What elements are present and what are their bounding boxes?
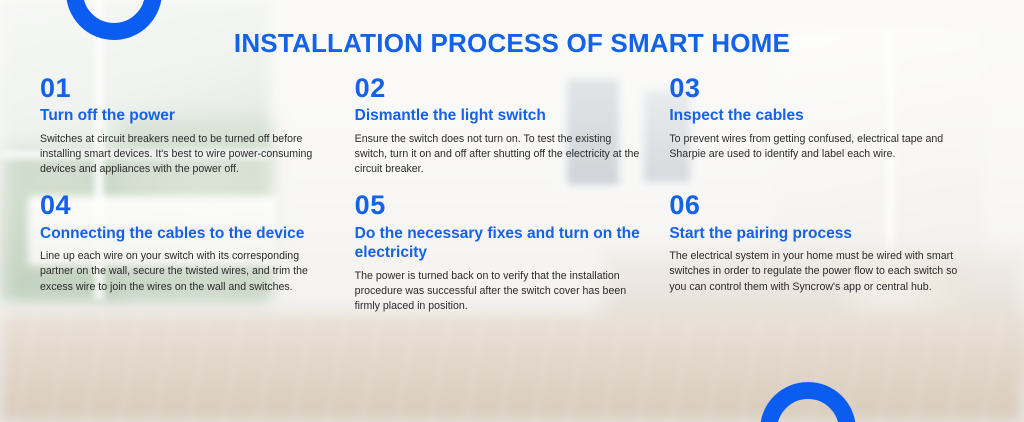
- steps-row-1: 01 Turn off the power Switches at circui…: [40, 74, 984, 177]
- infographic-page: INSTALLATION PROCESS OF SMART HOME 01 Tu…: [0, 0, 1024, 422]
- step-number: 02: [355, 74, 646, 102]
- step-number: 01: [40, 74, 331, 102]
- step-number: 06: [669, 191, 960, 219]
- step-number: 04: [40, 191, 331, 219]
- step-card-05: 05 Do the necessary fixes and turn on th…: [355, 191, 670, 314]
- step-card-01: 01 Turn off the power Switches at circui…: [40, 74, 355, 177]
- step-body: The power is turned back on to verify th…: [355, 269, 646, 314]
- step-body: Ensure the switch does not turn on. To t…: [355, 132, 646, 177]
- step-number: 05: [355, 191, 646, 219]
- step-number: 03: [669, 74, 960, 102]
- step-body: The electrical system in your home must …: [669, 249, 960, 294]
- step-card-06: 06 Start the pairing process The electri…: [669, 191, 984, 314]
- step-heading: Inspect the cables: [669, 106, 960, 126]
- step-body: To prevent wires from getting confused, …: [669, 132, 960, 162]
- step-card-04: 04 Connecting the cables to the device L…: [40, 191, 355, 314]
- step-heading: Dismantle the light switch: [355, 106, 646, 126]
- step-card-02: 02 Dismantle the light switch Ensure the…: [355, 74, 670, 177]
- step-body: Switches at circuit breakers need to be …: [40, 132, 331, 177]
- page-title: INSTALLATION PROCESS OF SMART HOME: [0, 28, 1024, 59]
- steps-grid: 01 Turn off the power Switches at circui…: [40, 74, 984, 314]
- step-heading: Turn off the power: [40, 106, 331, 126]
- step-body: Line up each wire on your switch with it…: [40, 249, 331, 294]
- step-heading: Connecting the cables to the device: [40, 224, 331, 244]
- step-heading: Start the pairing process: [669, 224, 960, 244]
- step-card-03: 03 Inspect the cables To prevent wires f…: [669, 74, 984, 177]
- steps-row-2: 04 Connecting the cables to the device L…: [40, 191, 984, 314]
- content-layer: INSTALLATION PROCESS OF SMART HOME 01 Tu…: [0, 0, 1024, 422]
- step-heading: Do the necessary fixes and turn on the e…: [355, 224, 646, 264]
